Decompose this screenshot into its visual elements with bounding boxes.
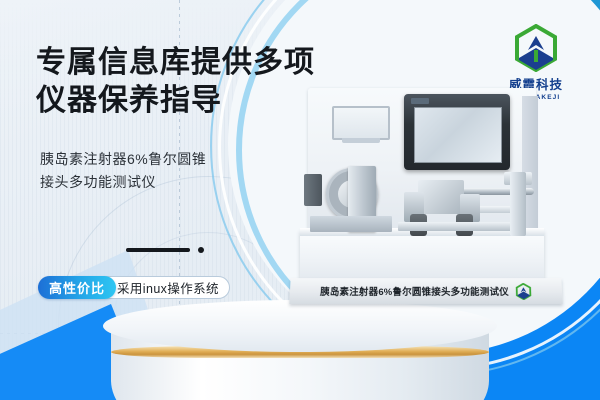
- left-clamp: [304, 174, 322, 206]
- headline-line-1: 专属信息库提供多项: [36, 44, 336, 82]
- headline-line-2: 仪器保养指导: [36, 82, 336, 120]
- hmi-touchscreen[interactable]: [404, 94, 510, 170]
- caption-hexagon-logo-icon: [515, 283, 533, 300]
- product-caption-text: 胰岛素注射器6%鲁尔圆锥接头多功能测试仪: [320, 284, 509, 298]
- promo-poster: 威霞科技 WEIXIAKEJI 专属信息库提供多项 仪器保养指导 胰岛素注射器6…: [0, 0, 600, 400]
- subtitle-line-1: 胰岛素注射器6%鲁尔圆锥: [40, 148, 280, 171]
- hmi-display-glass: [414, 107, 502, 163]
- feature-badges: 采用inux操作系统 高性价比: [38, 276, 230, 299]
- right-bracket: [510, 172, 526, 236]
- guide-rail-lower: [398, 222, 516, 231]
- display-pedestal: [103, 300, 497, 400]
- pedestal-top-surface: [103, 300, 497, 352]
- hexagon-logo-icon: [513, 24, 559, 72]
- product-caption-plate: 胰岛素注射器6%鲁尔圆锥接头多功能测试仪: [289, 278, 562, 304]
- divider-dot: [198, 247, 204, 253]
- badge-primary: 高性价比: [38, 276, 116, 299]
- dial-base-plate: [310, 216, 392, 232]
- mounting-bracket-panel: [332, 106, 390, 140]
- subtitle-line-2: 接头多功能测试仪: [40, 171, 280, 194]
- product-machine: [296, 88, 552, 303]
- subtitle: 胰岛素注射器6%鲁尔圆锥 接头多功能测试仪: [40, 148, 280, 194]
- headline: 专属信息库提供多项 仪器保养指导: [36, 44, 336, 120]
- divider-rule: [126, 248, 190, 252]
- fixture-block-top: [418, 180, 464, 214]
- hmi-brand-label: [411, 98, 429, 104]
